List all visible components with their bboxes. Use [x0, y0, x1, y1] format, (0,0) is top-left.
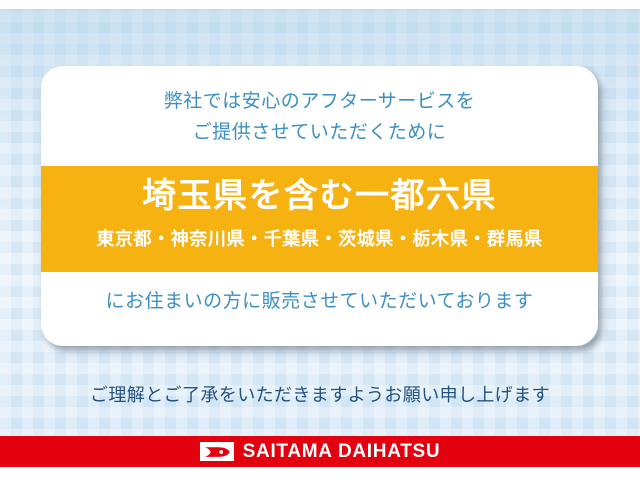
bottom-white-strip: [0, 467, 640, 480]
card-closing-text: にお住まいの方に販売させていただいております: [41, 288, 598, 316]
daihatsu-logo-icon: [200, 442, 234, 461]
card-intro-text: 弊社では安心のアフターサービスを ご提供させていただくために: [41, 86, 598, 148]
brand-footer-text: SAITAMA DAIHATSU: [243, 441, 441, 463]
request-line: ご理解とご了承をいただきますようお願い申し上げます: [0, 381, 640, 407]
card-intro-line-1: 弊社では安心のアフターサービスを: [164, 91, 476, 112]
top-white-strip: [0, 0, 640, 9]
dealer-notice-poster: 弊社では安心のアフターサービスを ご提供させていただくために 埼玉県を含む一都六…: [0, 0, 640, 480]
band-prefecture-list: 東京都・神奈川県・千葉県・茨城県・栃木県・群馬県: [41, 226, 598, 252]
brand-footer-bar: SAITAMA DAIHATSU: [0, 436, 640, 467]
highlight-band: 埼玉県を含む一都六県 東京都・神奈川県・千葉県・茨城県・栃木県・群馬県: [41, 166, 598, 272]
band-headline: 埼玉県を含む一都六県: [41, 174, 598, 218]
card-intro-line-2: ご提供させていただくために: [41, 117, 598, 148]
brand-footer-inner: SAITAMA DAIHATSU: [200, 441, 441, 463]
notice-card: 弊社では安心のアフターサービスを ご提供させていただくために 埼玉県を含む一都六…: [41, 66, 598, 346]
